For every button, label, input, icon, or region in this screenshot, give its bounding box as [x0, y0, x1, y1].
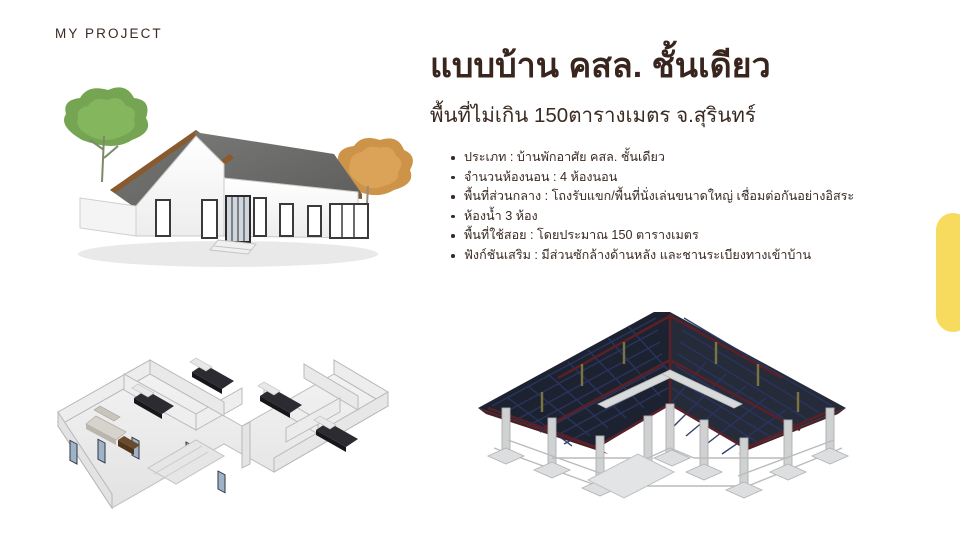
page-title: MY PROJECT — [55, 26, 163, 41]
list-item: ห้องน้ำ 3 ห้อง — [449, 207, 909, 227]
house-exterior-render — [18, 78, 418, 283]
slide-title: แบบบ้าน คสล. ชั้นเดียว — [430, 47, 771, 85]
slide-subtitle: พื้นที่ไม่เกิน 150ตารางเมตร จ.สุรินทร์ — [430, 104, 756, 129]
roof-structure-model — [448, 308, 893, 513]
list-item: พื้นที่ใช้สอย : โดยประมาณ 150 ตารางเมตร — [449, 226, 909, 246]
tree-green-icon — [64, 87, 148, 182]
spec-list: ประเภท : บ้านพักอาศัย คสล. ชั้นเดียว จำน… — [449, 148, 909, 266]
list-item: ประเภท : บ้านพักอาศัย คสล. ชั้นเดียว — [449, 148, 909, 168]
accent-tab[interactable] — [936, 213, 960, 332]
list-item: ฟังก์ชันเสริม : มีส่วนซักล้างด้านหลัง แล… — [449, 246, 909, 266]
isometric-floorplan-render — [28, 318, 413, 523]
list-item: จำนวนห้องนอน : 4 ห้องนอน — [449, 168, 909, 188]
list-item: พื้นที่ส่วนกลาง : โถงรับแขก/พื้นที่นั่งเ… — [449, 187, 909, 207]
slide-canvas: MY PROJECT — [0, 0, 960, 540]
